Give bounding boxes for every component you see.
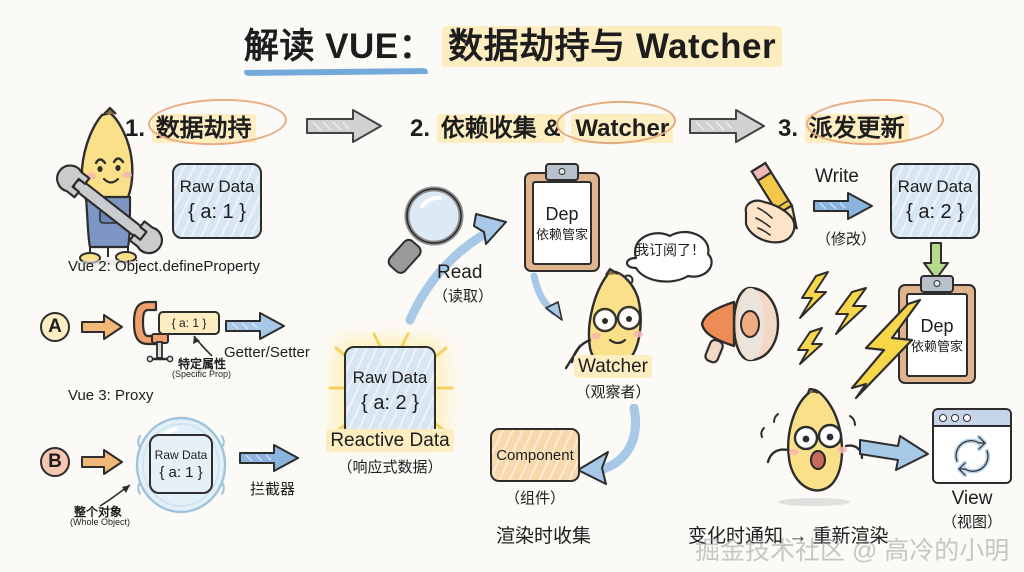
step-2-label: 依赖收集 & <box>437 114 565 143</box>
specific-prop-label-en: (Specific Prop) <box>172 369 231 379</box>
step-2-label-watcher: Watcher <box>571 114 673 143</box>
step-arrow-1-to-2 <box>305 108 385 144</box>
step-2-header: 2. 依赖收集 & Watcher <box>410 108 673 143</box>
watermark: 掘金技术社区 @ 高冷的小明 <box>695 531 1009 567</box>
page-title: 解读 VUE：数据劫持与 Watcher <box>0 18 1024 69</box>
thought-bubble-text: 我订阅了！ <box>632 240 708 260</box>
read-label-cn: （读取） <box>433 285 493 306</box>
proxy-raw-value: { a: 1 } <box>159 464 202 481</box>
raw-data-updated-value: { a: 2 } <box>906 200 964 224</box>
read-label-en: Read <box>437 262 482 284</box>
write-label-en: Write <box>815 166 859 188</box>
step-3-label: 派发更新 <box>805 114 909 143</box>
orange-arrow-a <box>80 312 124 342</box>
component-sub-label: （组件） <box>490 487 580 508</box>
refresh-icon <box>949 435 995 477</box>
view-label-en: View <box>922 488 1022 510</box>
browser-dot-1 <box>939 414 947 422</box>
step-2-number: 2. <box>410 115 430 142</box>
browser-dot-2 <box>951 414 959 422</box>
watcher-label-cn: （观察者） <box>538 381 688 402</box>
dep-subtitle: 依赖管家 <box>536 227 588 243</box>
step-arrow-2-to-3 <box>688 108 768 144</box>
title-part-2: 数据劫持与 Watcher <box>442 26 782 67</box>
reactive-data-label-en: Reactive Data <box>326 429 453 452</box>
vue2-caption: Vue 2: Object.defineProperty <box>68 258 260 275</box>
raw-data-box-initial: Raw Data { a: 1 } <box>172 163 262 239</box>
specific-prop-pointer <box>178 330 218 358</box>
write-label-cn: （修改） <box>816 228 876 249</box>
reactive-data-title: Raw Data <box>353 369 428 388</box>
write-arrow <box>812 190 874 222</box>
raw-data-box-updated: Raw Data { a: 2 } <box>890 163 980 239</box>
clipboard-clamp-icon <box>545 163 579 181</box>
browser-dot-3 <box>963 414 971 422</box>
proxy-raw-title: Raw Data <box>155 448 208 462</box>
lightning-bolts <box>796 270 926 400</box>
proxy-raw-data-box: Raw Data { a: 1 } <box>149 434 213 494</box>
raw-data-value: { a: 1 } <box>188 200 246 224</box>
vue3-caption: Vue 3: Proxy <box>68 387 153 404</box>
title-part-1: 解读 VUE： <box>242 27 436 66</box>
section2-footnote: 渲染时收集 <box>496 521 591 548</box>
view-label-cn: （视图） <box>922 511 1022 532</box>
view-browser-window <box>932 408 1012 484</box>
interceptor-label: 拦截器 <box>250 478 295 499</box>
badge-b: B <box>40 447 70 477</box>
dep-clipboard-collect: Dep 依赖管家 <box>524 172 600 272</box>
whole-object-label-en: (Whole Object) <box>70 517 130 527</box>
step-3-header: 3. 派发更新 <box>778 108 909 143</box>
orange-arrow-b <box>80 447 124 477</box>
component-label: Component <box>496 447 574 464</box>
getter-setter-label: Getter/Setter <box>224 344 310 361</box>
blue-arrow-interceptor <box>238 442 300 474</box>
raw-data-updated-title: Raw Data <box>898 178 973 197</box>
reactive-data-label-cn: （响应式数据） <box>300 456 480 477</box>
browser-titlebar <box>934 410 1010 427</box>
component-box: Component <box>490 428 580 482</box>
reactive-data-value: { a: 2 } <box>361 391 419 415</box>
dep-title: Dep <box>545 204 578 225</box>
blue-arrow-getter-setter <box>224 310 286 342</box>
megaphone-icon <box>694 282 806 368</box>
infographic-canvas: 解读 VUE：数据劫持与 Watcher 1. 数据劫持 2. 依赖收集 & W… <box>0 0 1024 572</box>
banana-mechanic-illustration <box>44 105 169 265</box>
raw-data-title: Raw Data <box>180 178 255 197</box>
badge-a: A <box>40 312 70 342</box>
read-arrow <box>398 196 528 326</box>
reactive-data-box: Raw Data { a: 2 } <box>344 346 436 438</box>
banana-surprised-illustration <box>756 388 868 508</box>
watcher-label-en: Watcher <box>574 355 652 378</box>
notify-to-view-arrow <box>858 430 930 474</box>
step-3-number: 3. <box>778 115 798 142</box>
